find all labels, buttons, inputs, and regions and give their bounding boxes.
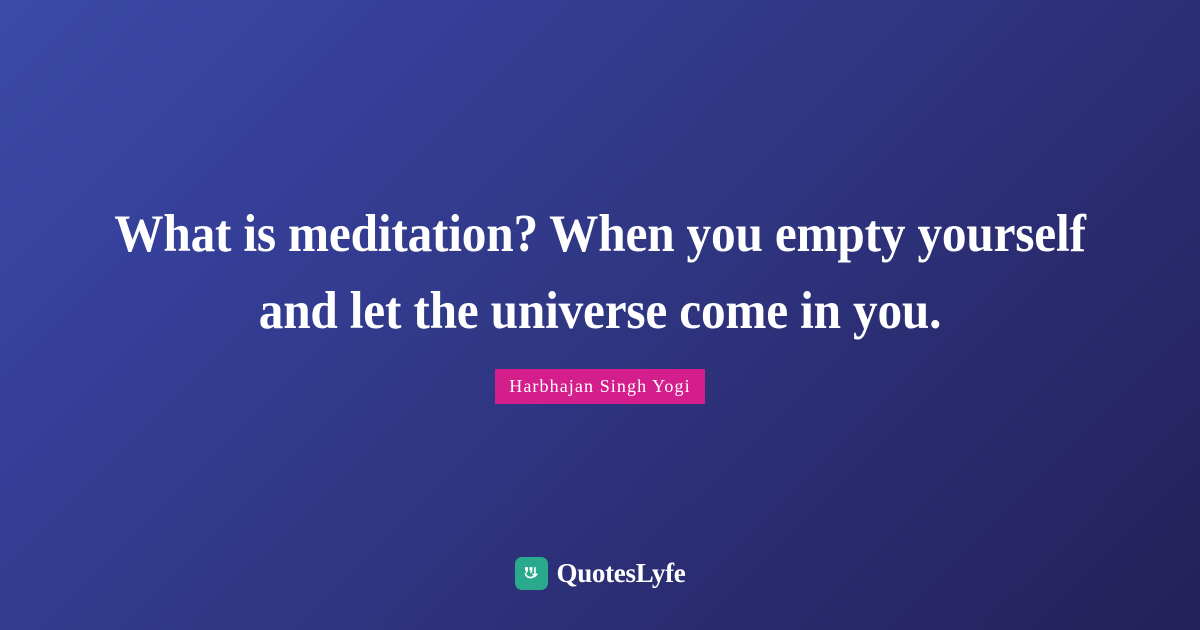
author-badge: Harbhajan Singh Yogi (495, 369, 705, 404)
author-attribution: Harbhajan Singh Yogi (0, 369, 1200, 404)
quote-block: What is meditation? When you empty yours… (0, 196, 1200, 350)
quote-smiley-icon (515, 557, 548, 590)
quote-card: What is meditation? When you empty yours… (0, 0, 1200, 630)
quote-text: What is meditation? When you empty yours… (87, 196, 1114, 350)
brand-name: QuotesLyfe (557, 560, 686, 587)
brand-logo[interactable]: QuotesLyfe (0, 557, 1200, 590)
